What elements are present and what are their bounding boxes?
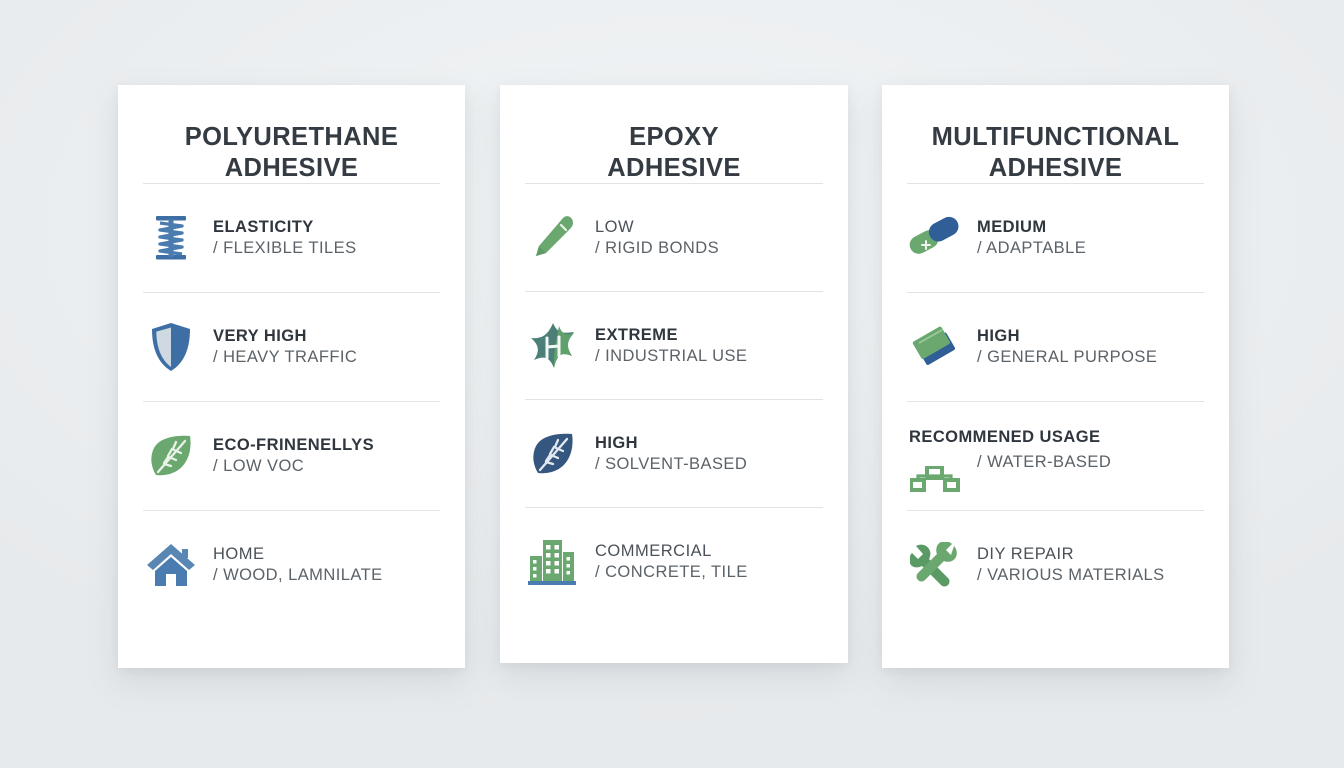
tools-icon <box>907 537 963 593</box>
feature-row[interactable]: MEDIUM / ADAPTABLE <box>882 184 1229 292</box>
feature-primary: COMMERCIAL <box>595 541 748 562</box>
home-icon <box>143 537 199 593</box>
feature-secondary: / WATER-BASED <box>977 452 1111 473</box>
feature-primary: HIGH <box>977 326 1157 347</box>
feature-row[interactable]: HIGH / GENERAL PURPOSE <box>882 293 1229 401</box>
feature-row[interactable]: COMMERCIAL / CONCRETE, TILE <box>500 508 848 615</box>
feature-row[interactable]: DIY REPAIR / VARIOUS MATERIALS <box>882 511 1229 619</box>
feature-text: ELASTICITY / FLEXIBLE TILES <box>213 217 357 259</box>
feature-primary: LOW <box>595 217 719 238</box>
shield-icon <box>143 319 199 375</box>
feature-primary: VERY HIGH <box>213 326 357 347</box>
pencil-icon <box>525 210 581 266</box>
feature-secondary: / VARIOUS MATERIALS <box>977 565 1165 586</box>
feature-rows: ELASTICITY / FLEXIBLE TILES VERY HIGH / … <box>118 184 465 619</box>
card-title: EPOXY ADHESIVE <box>500 85 848 183</box>
feature-rows: MEDIUM / ADAPTABLE HIGH / GENERAL PURPOS… <box>882 184 1229 619</box>
feature-text: VERY HIGH / HEAVY TRAFFIC <box>213 326 357 368</box>
feature-row[interactable]: LOW / RIGID BONDS <box>500 184 848 291</box>
feature-row[interactable]: EXTREME / INDUSTRIAL USE <box>500 292 848 399</box>
feature-text: HIGH / SOLVENT-BASED <box>595 433 747 475</box>
feature-text: MEDIUM / ADAPTABLE <box>977 217 1086 259</box>
feature-secondary: / CONCRETE, TILE <box>595 562 748 583</box>
bandage-pads-icon <box>907 210 963 266</box>
card-title: MULTIFUNCTIONAL ADHESIVE <box>882 85 1229 183</box>
feature-secondary: / HEAVY TRAFFIC <box>213 347 357 368</box>
feature-primary: HOME <box>213 544 383 565</box>
card-polyurethane-adhesive: POLYURETHANE ADHESIVE ELASTICITY / FLEXI… <box>118 85 465 668</box>
card-multifunctional-adhesive: MULTIFUNCTIONAL ADHESIVE MEDIUM / ADAPTA… <box>882 85 1229 668</box>
card-title: POLYURETHANE ADHESIVE <box>118 85 465 183</box>
feature-primary: RECOMMENED USAGE <box>909 427 1100 448</box>
feature-text: ECO-FRINENELLYS / LOW VOC <box>213 435 374 477</box>
feature-rows: LOW / RIGID BONDS EXTREME / INDUSTRIAL U… <box>500 184 848 615</box>
feature-primary: DIY REPAIR <box>977 544 1165 565</box>
feature-primary: MEDIUM <box>977 217 1086 238</box>
feature-text: EXTREME / INDUSTRIAL USE <box>595 325 747 367</box>
feature-secondary: / LOW VOC <box>213 456 374 477</box>
feature-row[interactable]: HIGH / SOLVENT-BASED <box>500 400 848 507</box>
comparison-board: POLYURETHANE ADHESIVE ELASTICITY / FLEXI… <box>0 0 1344 768</box>
feature-row[interactable]: ELASTICITY / FLEXIBLE TILES <box>118 184 465 292</box>
feature-text: LOW / RIGID BONDS <box>595 217 719 259</box>
feature-primary: HIGH <box>595 433 747 454</box>
feature-secondary: / GENERAL PURPOSE <box>977 347 1157 368</box>
feature-primary: ECO-FRINENELLYS <box>213 435 374 456</box>
buildings-icon <box>525 534 581 590</box>
feature-row[interactable]: RECOMMENED USAGE / WATER-BASED <box>882 402 1229 510</box>
spring-coil-icon <box>143 210 199 266</box>
feature-text: COMMERCIAL / CONCRETE, TILE <box>595 541 748 583</box>
feature-text: HIGH / GENERAL PURPOSE <box>977 326 1157 368</box>
stacked-tiles-icon <box>907 319 963 375</box>
starburst-icon <box>525 318 581 374</box>
feature-row[interactable]: VERY HIGH / HEAVY TRAFFIC <box>118 293 465 401</box>
feature-primary: ELASTICITY <box>213 217 357 238</box>
feature-text: HOME / WOOD, LAMNILATE <box>213 544 383 586</box>
feature-secondary: / WOOD, LAMNILATE <box>213 565 383 586</box>
leaf-blue-icon <box>525 426 581 482</box>
feature-secondary: / ADAPTABLE <box>977 238 1086 259</box>
feature-text: RECOMMENED USAGE / WATER-BASED <box>977 427 1111 473</box>
feature-secondary: / RIGID BONDS <box>595 238 719 259</box>
feature-primary: EXTREME <box>595 325 747 346</box>
feature-secondary: / SOLVENT-BASED <box>595 454 747 475</box>
card-epoxy-adhesive: EPOXY ADHESIVE LOW / RIGID BONDS <box>500 85 848 663</box>
feature-row[interactable]: ECO-FRINENELLYS / LOW VOC <box>118 402 465 510</box>
sitemap-icon <box>907 451 963 507</box>
feature-secondary: / INDUSTRIAL USE <box>595 346 747 367</box>
feature-text: DIY REPAIR / VARIOUS MATERIALS <box>977 544 1165 586</box>
feature-row[interactable]: HOME / WOOD, LAMNILATE <box>118 511 465 619</box>
feature-secondary: / FLEXIBLE TILES <box>213 238 357 259</box>
leaf-icon <box>143 428 199 484</box>
